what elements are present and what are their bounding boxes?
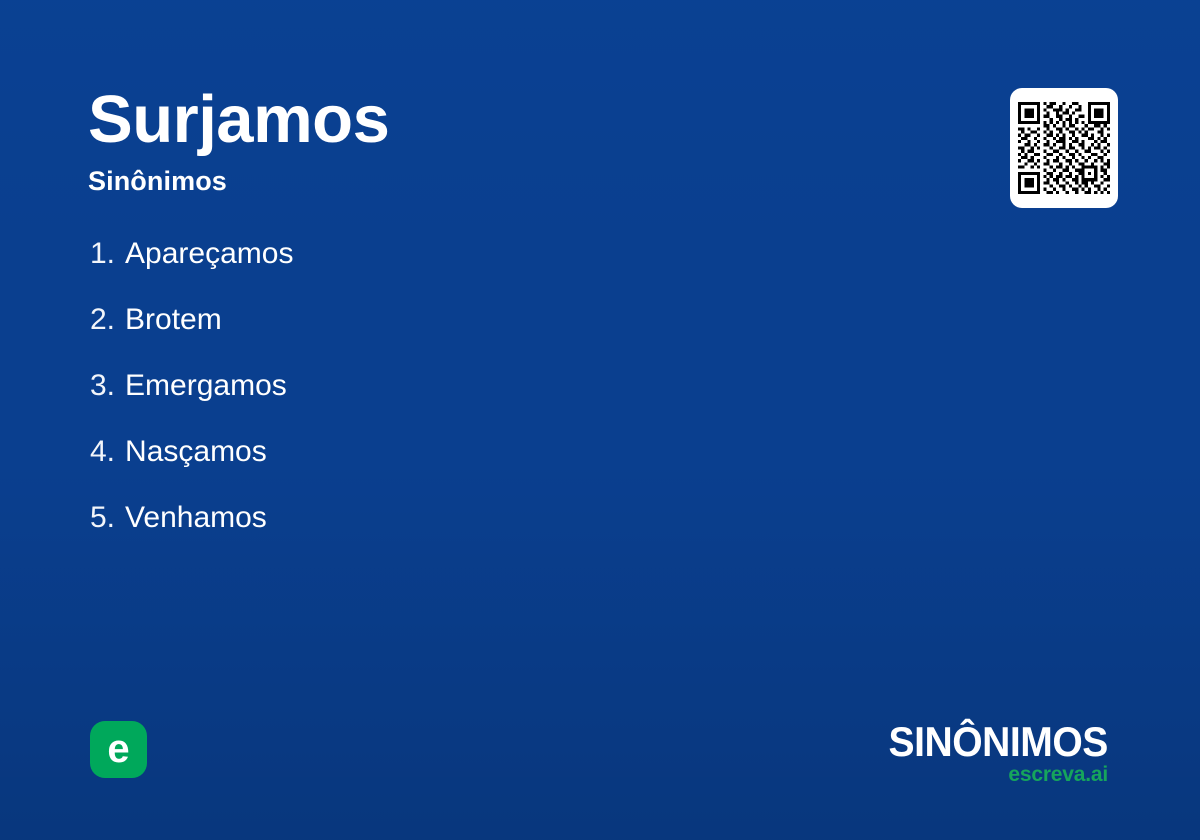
brand-lockup: SINÔNIMOS escreva.ai xyxy=(872,722,1108,785)
qr-code-icon xyxy=(1018,102,1110,194)
qr-code-container[interactable] xyxy=(1010,88,1118,208)
list-item: 5. Venhamos xyxy=(90,498,293,564)
list-item-index: 2. xyxy=(90,300,115,340)
escreva-e-logo-icon[interactable]: e xyxy=(90,721,147,778)
list-item-label: Brotem xyxy=(125,300,222,340)
list-item-index: 5. xyxy=(90,498,115,538)
list-item-label: Emergamos xyxy=(125,366,287,406)
card-content: Surjamos Sinônimos xyxy=(0,0,1200,840)
synonym-list: 1. Apareçamos 2. Brotem 3. Emergamos 4. … xyxy=(90,234,293,564)
list-item: 1. Apareçamos xyxy=(90,234,293,300)
list-item-label: Apareçamos xyxy=(125,234,293,274)
page-title: Surjamos xyxy=(88,86,389,153)
list-item: 3. Emergamos xyxy=(90,366,293,432)
escreva-e-logo-letter: e xyxy=(107,729,129,769)
synonym-card: Surjamos Sinônimos xyxy=(0,0,1200,840)
list-item: 4. Nasçamos xyxy=(90,432,293,498)
list-item-index: 3. xyxy=(90,366,115,406)
brand-tagline: escreva.ai xyxy=(872,764,1108,785)
list-item-label: Nasçamos xyxy=(125,432,267,472)
list-item-index: 4. xyxy=(90,432,115,472)
list-item-index: 1. xyxy=(90,234,115,274)
list-item-label: Venhamos xyxy=(125,498,267,538)
category-label: Sinônimos xyxy=(88,166,389,197)
list-item: 2. Brotem xyxy=(90,300,293,366)
headline-block: Surjamos Sinônimos xyxy=(88,86,389,197)
brand-name: SINÔNIMOS xyxy=(889,722,1108,761)
